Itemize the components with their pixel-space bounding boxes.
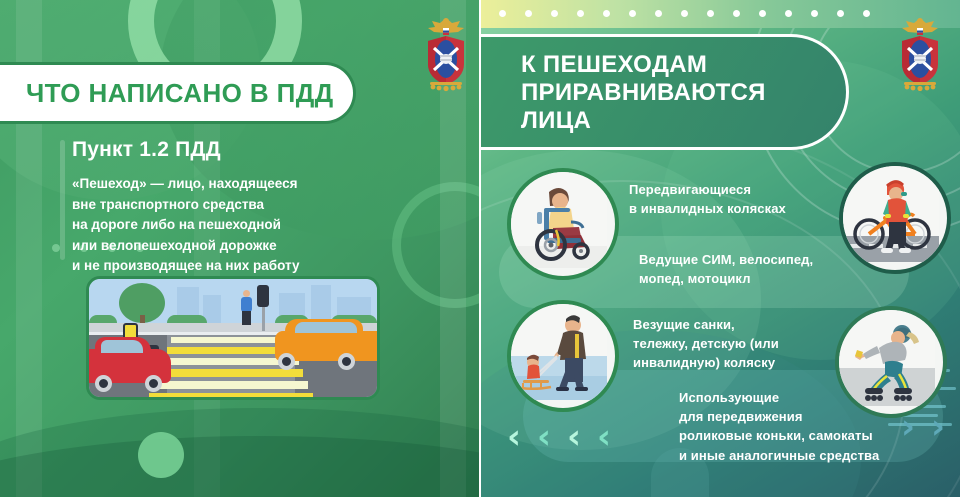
item-1-label: Передвигающиеся в инвалидных колясках xyxy=(629,180,859,218)
clause-line-1: «Пешеход» — лицо, находящееся xyxy=(72,176,298,191)
mvd-emblem xyxy=(892,12,948,94)
infographic-root: ЧТО НАПИСАНО В ПДД Пункт 1.2 ПДД «Пешехо… xyxy=(0,0,960,497)
wheel xyxy=(338,353,355,370)
crosswalk-illustration xyxy=(86,276,380,400)
orange-car-window xyxy=(295,322,357,333)
chevron-left-icon: ‹ xyxy=(507,420,521,454)
pedestrian-icon xyxy=(241,297,252,312)
chevron-left-icon: ‹ xyxy=(537,420,551,454)
decorative-vertical-bar xyxy=(60,140,65,260)
item-4-line-4: и иные аналогичные средства xyxy=(679,448,879,463)
wheel xyxy=(95,375,112,392)
item-3-line-1: Везущие санки, xyxy=(633,317,735,332)
clause-heading: Пункт 1.2 ПДД xyxy=(72,138,402,162)
mvd-emblem xyxy=(418,12,474,94)
item-1-line-2: в инвалидных колясках xyxy=(629,201,786,216)
clause-card: Пункт 1.2 ПДД «Пешеход» — лицо, находяще… xyxy=(72,138,402,277)
item-3-label: Везущие санки, тележку, детскую (или инв… xyxy=(633,315,863,373)
left-panel: ЧТО НАПИСАНО В ПДД Пункт 1.2 ПДД «Пешехо… xyxy=(0,0,479,497)
right-title-pill: К ПЕШЕХОДАМ ПРИРАВНИВАЮТСЯ ЛИЦА xyxy=(481,34,849,150)
wheel xyxy=(145,375,162,392)
item-2-label: Ведущие СИМ, велосипед, мопед, мотоцикл xyxy=(639,250,879,288)
clause-body: «Пешеход» — лицо, находящееся вне трансп… xyxy=(72,174,402,277)
chevron-left-icon: ‹ xyxy=(597,420,611,454)
chevron-right-icon: › xyxy=(931,410,945,444)
left-panel-title: ЧТО НАПИСАНО В ПДД xyxy=(26,78,334,109)
item-4-line-1: Использующие xyxy=(679,390,779,405)
chevron-left-icon: ‹ xyxy=(567,420,581,454)
item-4-line-2: для передвижения xyxy=(679,409,803,424)
red-car-window xyxy=(101,340,143,353)
clause-line-2: вне транспортного средства xyxy=(72,197,264,212)
traffic-light-icon xyxy=(257,285,269,307)
right-title-line-3: ЛИЦА xyxy=(521,107,806,135)
adult-pulling-child-sled-icon xyxy=(507,300,619,412)
item-3-line-2: тележку, детскую (или xyxy=(633,336,779,351)
item-2-line-2: мопед, мотоцикл xyxy=(639,271,751,286)
clause-line-3: на дороге либо на пешеходной xyxy=(72,217,281,232)
right-panel: К ПЕШЕХОДАМ ПРИРАВНИВАЮТСЯ ЛИЦА xyxy=(481,0,960,497)
top-dotted-strip xyxy=(481,0,960,28)
right-title-line-1: К ПЕШЕХОДАМ xyxy=(521,51,806,79)
decorative-dot-large xyxy=(138,432,184,478)
pedestrian-head xyxy=(243,290,250,297)
clause-line-4: или велопешеходной дорожке xyxy=(72,238,277,253)
right-title-line-2: ПРИРАВНИВАЮТСЯ xyxy=(521,79,806,107)
pedestrian-legs xyxy=(242,311,251,325)
item-1-line-1: Передвигающиеся xyxy=(629,182,751,197)
wheelchair-user-icon xyxy=(507,168,619,280)
clause-line-5: и не производящее на них работу xyxy=(72,258,300,273)
wheel xyxy=(278,353,295,370)
chevron-right-icon: › xyxy=(901,410,915,444)
item-3-line-3: инвалидную) коляску xyxy=(633,355,775,370)
item-4-line-3: роликовые коньки, самокаты xyxy=(679,428,873,443)
left-title-pill: ЧТО НАПИСАНО В ПДД xyxy=(0,62,356,124)
item-2-line-1: Ведущие СИМ, велосипед, xyxy=(639,252,813,267)
